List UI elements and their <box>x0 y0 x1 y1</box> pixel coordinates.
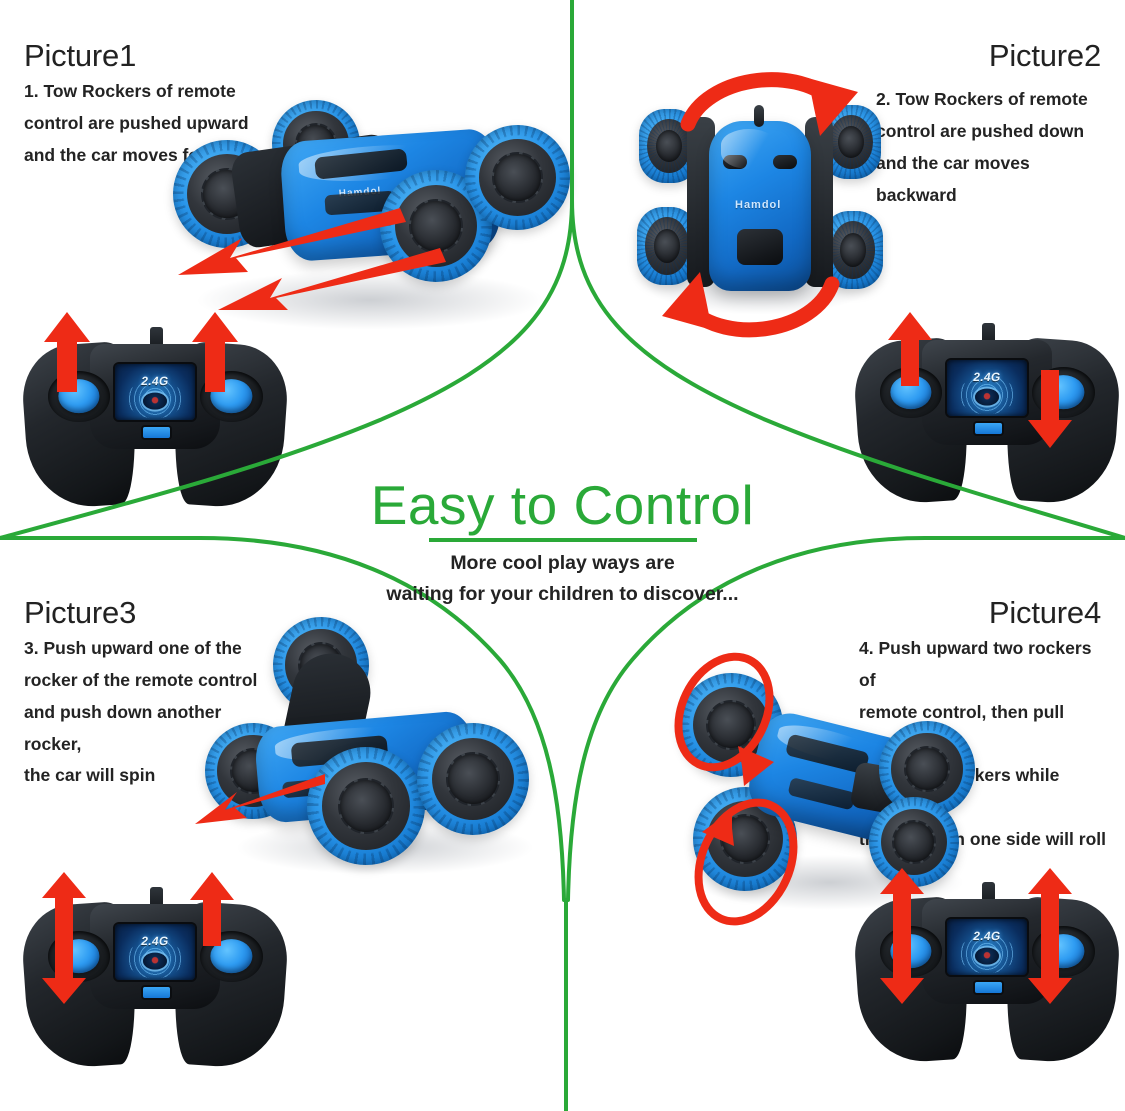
wheel-hub <box>508 168 527 187</box>
car-ground-shadow <box>195 270 545 330</box>
remote-power-button[interactable] <box>975 423 1003 434</box>
picture1-title: Picture1 <box>24 38 136 74</box>
remote-power-button[interactable] <box>975 982 1003 993</box>
subtitle-line-2: waiting for your children to discover... <box>303 579 823 610</box>
display-frequency-label: 2.4G <box>972 929 1001 943</box>
picture4-title: Picture4 <box>989 595 1101 631</box>
wheel-hub <box>906 834 922 850</box>
wheel-spokes <box>904 746 950 792</box>
remote-right-stick-well <box>1032 926 1095 977</box>
display-frequency-label: 2.4G <box>140 934 169 948</box>
car-front-post <box>754 105 764 127</box>
car-body-highlight <box>721 129 777 169</box>
display-lens <box>143 953 167 970</box>
picture2-title: Picture2 <box>989 38 1101 74</box>
remote-right-joystick[interactable] <box>211 939 252 973</box>
picture4-stunt-car <box>665 655 975 905</box>
remote-right-stick-well <box>200 371 263 422</box>
display-lens <box>975 948 999 965</box>
remote-power-button[interactable] <box>143 987 171 998</box>
display-frequency-label: 2.4G <box>972 370 1001 384</box>
car-wheel-front-right <box>417 723 529 835</box>
tire-tread <box>869 797 959 887</box>
tire-tread <box>465 125 570 230</box>
display-lens <box>143 393 167 410</box>
remote-right-stick-well <box>1032 367 1095 418</box>
remote-left-joystick[interactable] <box>890 375 931 409</box>
remote-display: 2.4G <box>115 364 195 420</box>
car-rear-window <box>737 229 783 265</box>
wheel-spokes <box>720 814 770 864</box>
picture3-remote-control: 2.4G <box>30 890 280 1060</box>
display-frequency-label: 2.4G <box>140 374 169 388</box>
remote-right-stick-well <box>200 931 263 982</box>
remote-right-joystick[interactable] <box>1043 375 1084 409</box>
car-wheel-front-center <box>307 747 425 865</box>
car-brand-logo: Hamdol <box>735 199 781 211</box>
wheel-hub <box>355 795 376 816</box>
wheel-hub <box>463 769 483 789</box>
car-side-intake <box>787 777 855 810</box>
picture2-line-1: 2. Tow Rockers of remote <box>876 84 1108 116</box>
remote-display: 2.4G <box>947 919 1027 975</box>
picture2-remote-control: 2.4G <box>862 326 1112 496</box>
wheel-spokes <box>706 700 756 750</box>
picture1-remote-control: 2.4G <box>30 330 280 500</box>
wheel-hub <box>736 830 755 849</box>
remote-housing: 2.4G <box>862 885 1112 1055</box>
car-body-shell: Hamdol <box>709 121 811 291</box>
remote-left-joystick[interactable] <box>58 379 99 413</box>
car-wheel-lower-right <box>869 797 959 887</box>
remote-housing: 2.4G <box>30 890 280 1060</box>
wheel-hub <box>918 760 935 777</box>
remote-left-stick-well <box>48 371 111 422</box>
picture3-stunt-car <box>195 615 555 875</box>
subtitle-line-1: More cool play ways are <box>303 548 823 579</box>
wheel-hub <box>426 216 446 236</box>
remote-power-button[interactable] <box>143 427 171 438</box>
remote-left-joystick[interactable] <box>890 934 931 968</box>
picture2-line-3: and the car moves backward <box>876 148 1108 212</box>
car-wheel-front-right <box>465 125 570 230</box>
remote-left-stick-well <box>48 931 111 982</box>
page-title: Easy to Control <box>303 478 823 533</box>
remote-housing: 2.4G <box>30 330 280 500</box>
remote-left-stick-well <box>880 926 943 977</box>
remote-display: 2.4G <box>947 360 1027 416</box>
wheel-spokes <box>446 752 500 806</box>
tire-tread <box>417 723 529 835</box>
remote-right-joystick[interactable] <box>1043 934 1084 968</box>
wheel-spokes <box>492 152 542 202</box>
remote-right-joystick[interactable] <box>211 379 252 413</box>
infographic-canvas: Picture1 1. Tow Rockers of remote contro… <box>0 0 1125 1111</box>
picture2-description: 2. Tow Rockers of remote control are pus… <box>876 84 1108 211</box>
remote-left-joystick[interactable] <box>58 939 99 973</box>
center-headline-block: Easy to Control More cool play ways are … <box>303 478 823 610</box>
picture3-title: Picture3 <box>24 595 136 631</box>
car-roof-vent-right <box>773 155 797 169</box>
wheel-hub <box>722 716 741 735</box>
remote-housing: 2.4G <box>862 326 1112 496</box>
wheel-spokes <box>892 820 935 863</box>
picture2-stunt-car: Hamdol <box>635 95 885 315</box>
remote-display: 2.4G <box>115 924 195 980</box>
picture4-remote-control: 2.4G <box>862 885 1112 1055</box>
headline-underline <box>429 538 697 542</box>
display-lens <box>975 389 999 406</box>
picture1-stunt-car: Hamdol <box>165 95 565 320</box>
picture2-line-2: control are pushed down <box>876 116 1108 148</box>
tire-tread <box>307 747 425 865</box>
wheel-spokes <box>409 199 463 253</box>
remote-left-stick-well <box>880 367 943 418</box>
